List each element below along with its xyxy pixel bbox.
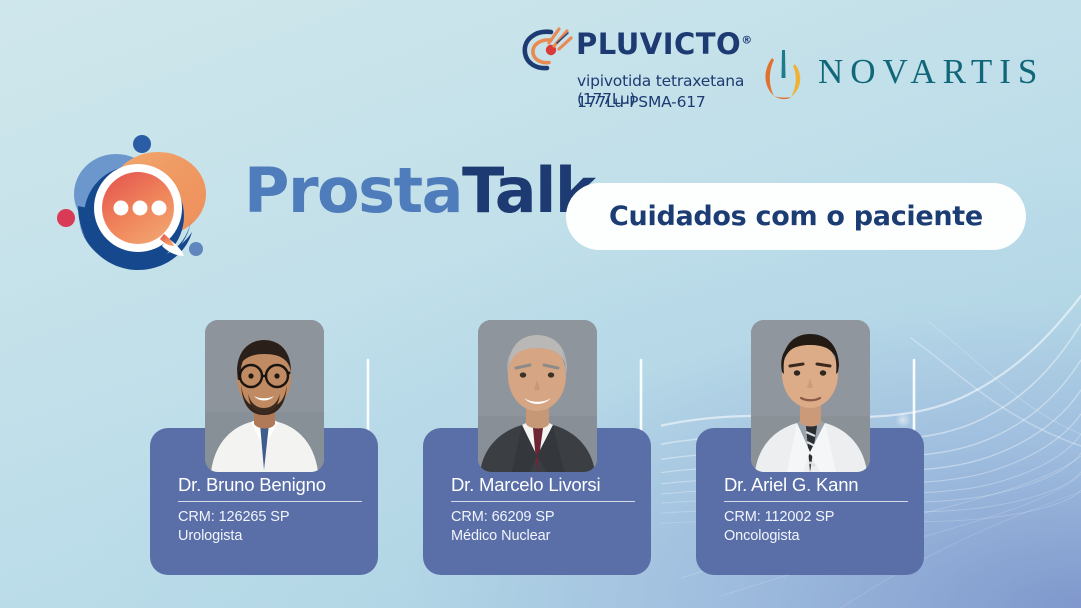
- divider: [451, 501, 635, 502]
- novartis-logo: NOVARTIS: [760, 46, 1030, 106]
- speaker-photo: [205, 320, 324, 472]
- brand-name-part1: Prosta: [244, 154, 462, 227]
- pluvicto-logo: PLUVICTO® vipivotida tetraxetana (177Lu)…: [521, 26, 749, 112]
- speaker-name: Dr. Bruno Benigno: [178, 474, 362, 496]
- speaker-name: Dr. Ariel G. Kann: [724, 474, 908, 496]
- pluvicto-compound-code: 177Lu-PSMA-617: [577, 93, 706, 111]
- speaker-photo: [751, 320, 870, 472]
- pluvicto-comet-icon: [521, 26, 573, 72]
- prostatalk-speech-bubble-icon: [48, 132, 230, 280]
- section-title-label: Cuidados com o paciente: [609, 201, 983, 232]
- speaker-crm: CRM: 66209 SP: [451, 508, 635, 527]
- speaker-info: Dr. Bruno Benigno CRM: 126265 SP Urologi…: [178, 474, 362, 546]
- speaker-crm: CRM: 126265 SP: [178, 508, 362, 527]
- speaker-info: Dr. Ariel G. Kann CRM: 112002 SP Oncolog…: [724, 474, 908, 546]
- novartis-flame-icon: [760, 48, 808, 100]
- prostatalk-brand: ProstaTalk: [48, 132, 558, 280]
- section-title-pill: Cuidados com o paciente: [566, 183, 1026, 250]
- speaker-specialty: Urologista: [178, 527, 362, 546]
- speaker-card-list: Dr. Bruno Benigno CRM: 126265 SP Urologi…: [0, 320, 1081, 590]
- speaker-specialty: Médico Nuclear: [451, 527, 635, 546]
- divider: [178, 501, 362, 502]
- divider: [724, 501, 908, 502]
- prostatalk-wordmark: ProstaTalk: [244, 160, 595, 222]
- speaker-name: Dr. Marcelo Livorsi: [451, 474, 635, 496]
- pluvicto-wordmark: PLUVICTO®: [576, 30, 753, 59]
- slide-canvas: PLUVICTO® vipivotida tetraxetana (177Lu)…: [0, 0, 1081, 608]
- speaker-crm: CRM: 112002 SP: [724, 508, 908, 527]
- novartis-wordmark: NOVARTIS: [818, 54, 1044, 89]
- speaker-specialty: Oncologista: [724, 527, 908, 546]
- registered-mark: ®: [741, 33, 753, 46]
- speaker-photo: [478, 320, 597, 472]
- speaker-info: Dr. Marcelo Livorsi CRM: 66209 SP Médico…: [451, 474, 635, 546]
